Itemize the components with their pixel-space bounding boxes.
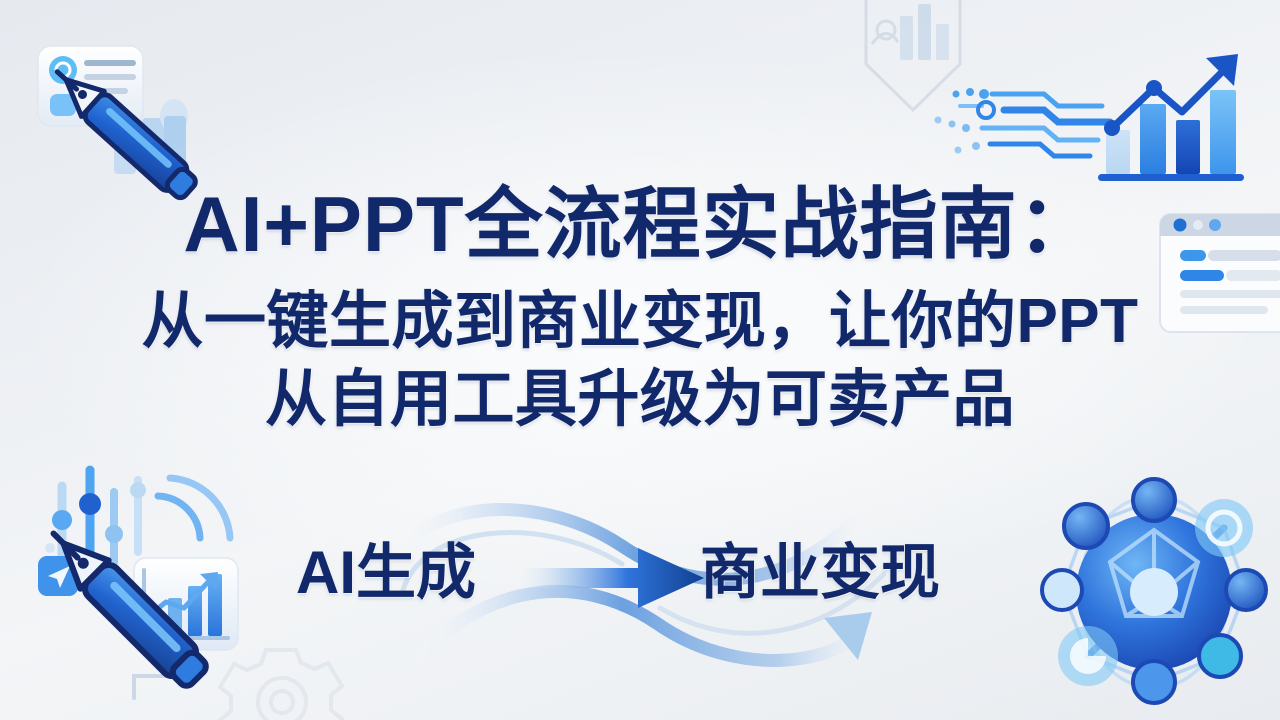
network-hub-icon	[1030, 468, 1278, 716]
flow-source-label: AI生成	[296, 537, 476, 609]
flow-target-label: 商业变现	[700, 537, 940, 609]
gear-outline-icon	[218, 636, 348, 720]
page-subtitle-line-1: 从一键生成到商业变现，让你的PPT	[0, 288, 1280, 356]
page-title-line-1: AI+PPT全流程实战指南：	[0, 182, 1280, 266]
fountain-pen-wireless-icon	[10, 452, 290, 714]
arrow-right-gradient-icon	[520, 546, 706, 610]
slide-canvas: AI+PPT全流程实战指南： 从一键生成到商业变现，让你的PPT 从自用工具升级…	[0, 0, 1280, 720]
shield-badge-chart-icon	[838, 0, 988, 136]
page-subtitle-line-2: 从自用工具升级为可卖产品	[0, 366, 1280, 434]
